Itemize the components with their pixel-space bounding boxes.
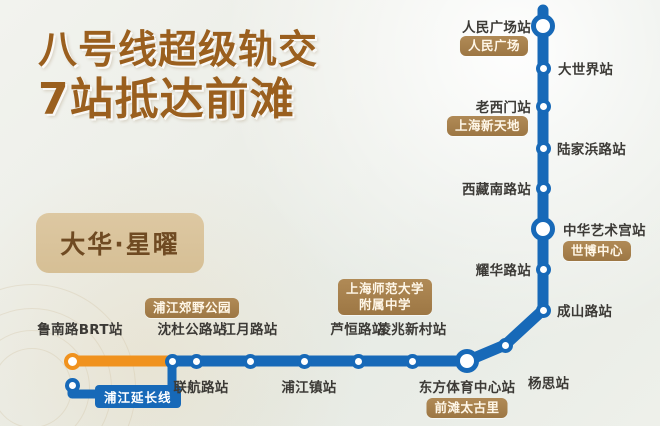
- station-label-lingzhao-xincun: 凌兆新村站: [378, 318, 447, 338]
- station-dot-laoximen[interactable]: [536, 99, 551, 114]
- station-dot-pujiang-zhen[interactable]: [297, 354, 312, 369]
- station-dot-dashijie[interactable]: [536, 61, 551, 76]
- poi-badge-xintiandi: 上海新天地: [447, 116, 528, 136]
- metro-line-poster: 八号线超级轨交 7站抵达前滩 大华·星曜 浦江延长线 人民广场站 大世界站 老西…: [0, 0, 660, 426]
- station-dot-jiangyue-lu[interactable]: [243, 354, 258, 369]
- station-dot-lunan-lu-brt[interactable]: [64, 353, 81, 370]
- station-label-xizang-nan-lu: 西藏南路站: [462, 178, 531, 198]
- station-label-jiangyue-lu: 江月路站: [222, 318, 277, 338]
- poi-badge-qiantan-taikooli: 前滩太古里: [426, 398, 507, 418]
- poi-badge-renmin-guangchang: 人民广场: [460, 36, 528, 56]
- station-dot-shendu-gonglu[interactable]: [165, 354, 180, 369]
- station-dot-zhonghua-yishugong[interactable]: [531, 217, 555, 241]
- pujiang-extension-label: 浦江延长线: [95, 385, 181, 408]
- station-label-dashijie: 大世界站: [558, 58, 613, 78]
- station-label-pujiang-zhen: 浦江镇站: [281, 376, 336, 396]
- poi-badge-pujiang-jiaoye: 浦江郊野公园: [145, 298, 239, 318]
- station-label-lianhang-lu: 联航路站: [173, 376, 228, 396]
- station-label-renmin-guangchang: 人民广场站: [462, 16, 531, 36]
- station-dot-lianhang-lu[interactable]: [189, 354, 204, 369]
- station-label-yaohua-lu: 耀华路站: [476, 259, 531, 279]
- station-dot-lujiabang-lu[interactable]: [536, 141, 551, 156]
- station-label-dongfang-tiyu: 东方体育中心站: [419, 376, 516, 396]
- station-dot-luheng-lu[interactable]: [351, 354, 366, 369]
- station-dot-chengshan-lu[interactable]: [536, 303, 551, 318]
- station-dot-renmin-guangchang[interactable]: [531, 14, 555, 38]
- station-label-yangsi: 杨思站: [528, 372, 569, 392]
- station-label-chengshan-lu: 成山路站: [557, 300, 612, 320]
- station-dot-pujiang-ext-stop[interactable]: [65, 378, 80, 393]
- station-dot-xizang-nan-lu[interactable]: [536, 181, 551, 196]
- station-label-lujiabang-lu: 陆家浜路站: [557, 138, 626, 158]
- station-dot-yangsi[interactable]: [498, 338, 513, 353]
- station-label-laoximen: 老西门站: [476, 96, 531, 116]
- poi-badge-shibo-zhongxin: 世博中心: [563, 241, 631, 261]
- station-dot-lingzhao-xincun[interactable]: [405, 354, 420, 369]
- station-dot-dongfang-tiyu[interactable]: [455, 349, 479, 373]
- station-label-zhonghua-yishugong: 中华艺术宫站: [563, 219, 646, 239]
- station-label-lunan-lu-brt: 鲁南路BRT站: [37, 318, 122, 338]
- station-label-shendu-gonglu: 沈杜公路站: [158, 318, 227, 338]
- station-label-luheng-lu: 芦恒路站: [330, 318, 385, 338]
- poi-badge-shanghai-shida: 上海师范大学 附属中学: [338, 279, 432, 315]
- station-dot-yaohua-lu[interactable]: [536, 262, 551, 277]
